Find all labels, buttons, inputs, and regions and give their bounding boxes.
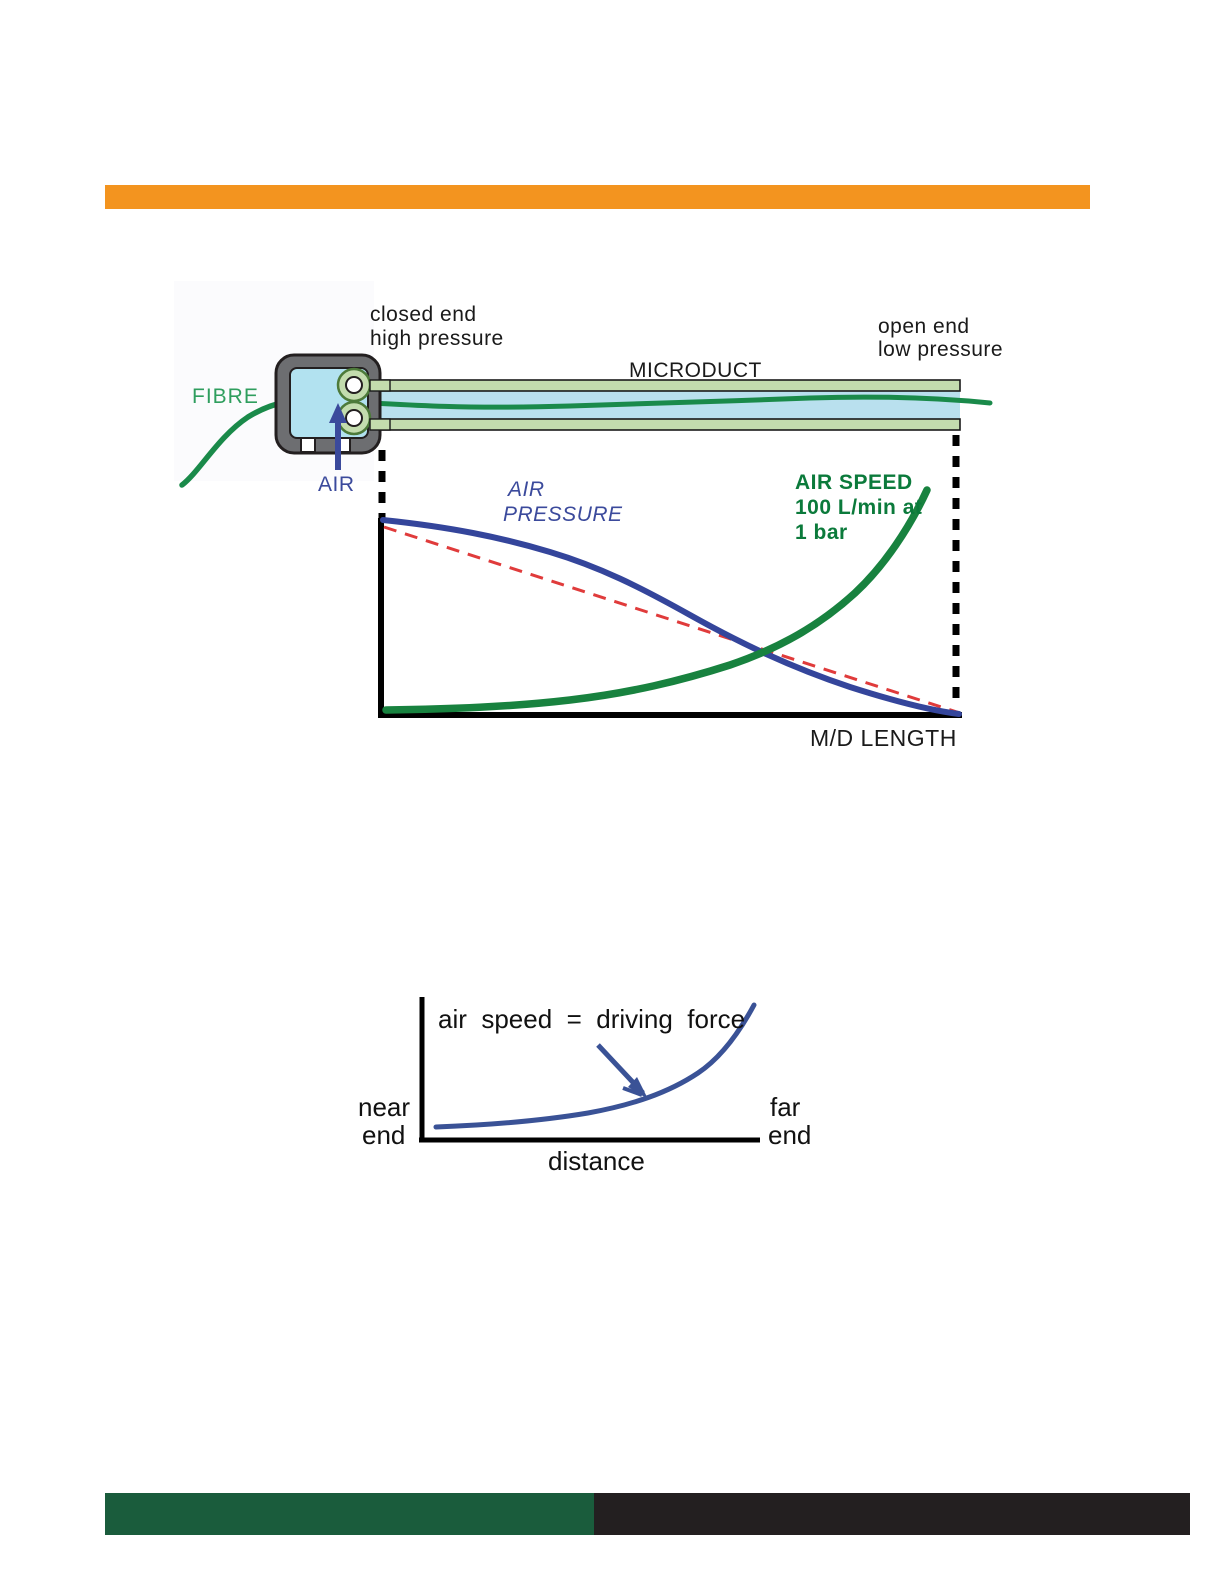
head-foot-left: [301, 438, 315, 452]
chart2-end-left-label: end: [362, 1121, 405, 1151]
chart2-near-label: near: [358, 1093, 410, 1123]
footer-accent-bar-green: [105, 1493, 594, 1535]
seal-ring-lower-inner: [346, 410, 362, 426]
air-speed-label-line2: 100 L/min at: [795, 496, 922, 521]
air-speed-label-line3: 1 bar: [795, 521, 848, 546]
air-speed-driving-force-figure: air speed = driving force near end far e…: [340, 975, 860, 1185]
chart2-end-right-label: end: [768, 1121, 811, 1151]
page-canvas: FIBRE AIR closed end high pressure open …: [0, 0, 1224, 1584]
chart2-x-axis-label: distance: [548, 1147, 645, 1177]
microduct-air-blowing-figure: FIBRE AIR closed end high pressure open …: [170, 275, 1030, 775]
air-pressure-label-line2: PRESSURE: [503, 503, 623, 528]
chart2-annotation-label: air speed = driving force: [438, 1005, 745, 1035]
footer-accent-bar-dark: [594, 1493, 1190, 1535]
chart2-far-label: far: [770, 1093, 800, 1123]
head-duct-joint-lower: [370, 419, 390, 430]
fibre-label: FIBRE: [192, 385, 259, 410]
open-end-label-line1: open end: [878, 315, 970, 340]
annotation-arrow: [598, 1045, 648, 1099]
head-duct-joint-upper: [370, 380, 390, 391]
air-speed-label-line1: AIR SPEED: [795, 471, 913, 496]
closed-end-label-line2: high pressure: [370, 327, 504, 352]
open-end-label-line2: low pressure: [878, 338, 1003, 363]
seal-ring-upper-inner: [346, 377, 362, 393]
air-pressure-label-line1: AIR: [508, 478, 545, 503]
air-inlet-label: AIR: [318, 473, 355, 498]
closed-end-label-line1: closed end: [370, 303, 477, 328]
header-accent-bar: [105, 185, 1090, 209]
chart1-x-axis-label: M/D LENGTH: [810, 725, 957, 752]
microduct-label: MICRODUCT: [629, 359, 762, 384]
